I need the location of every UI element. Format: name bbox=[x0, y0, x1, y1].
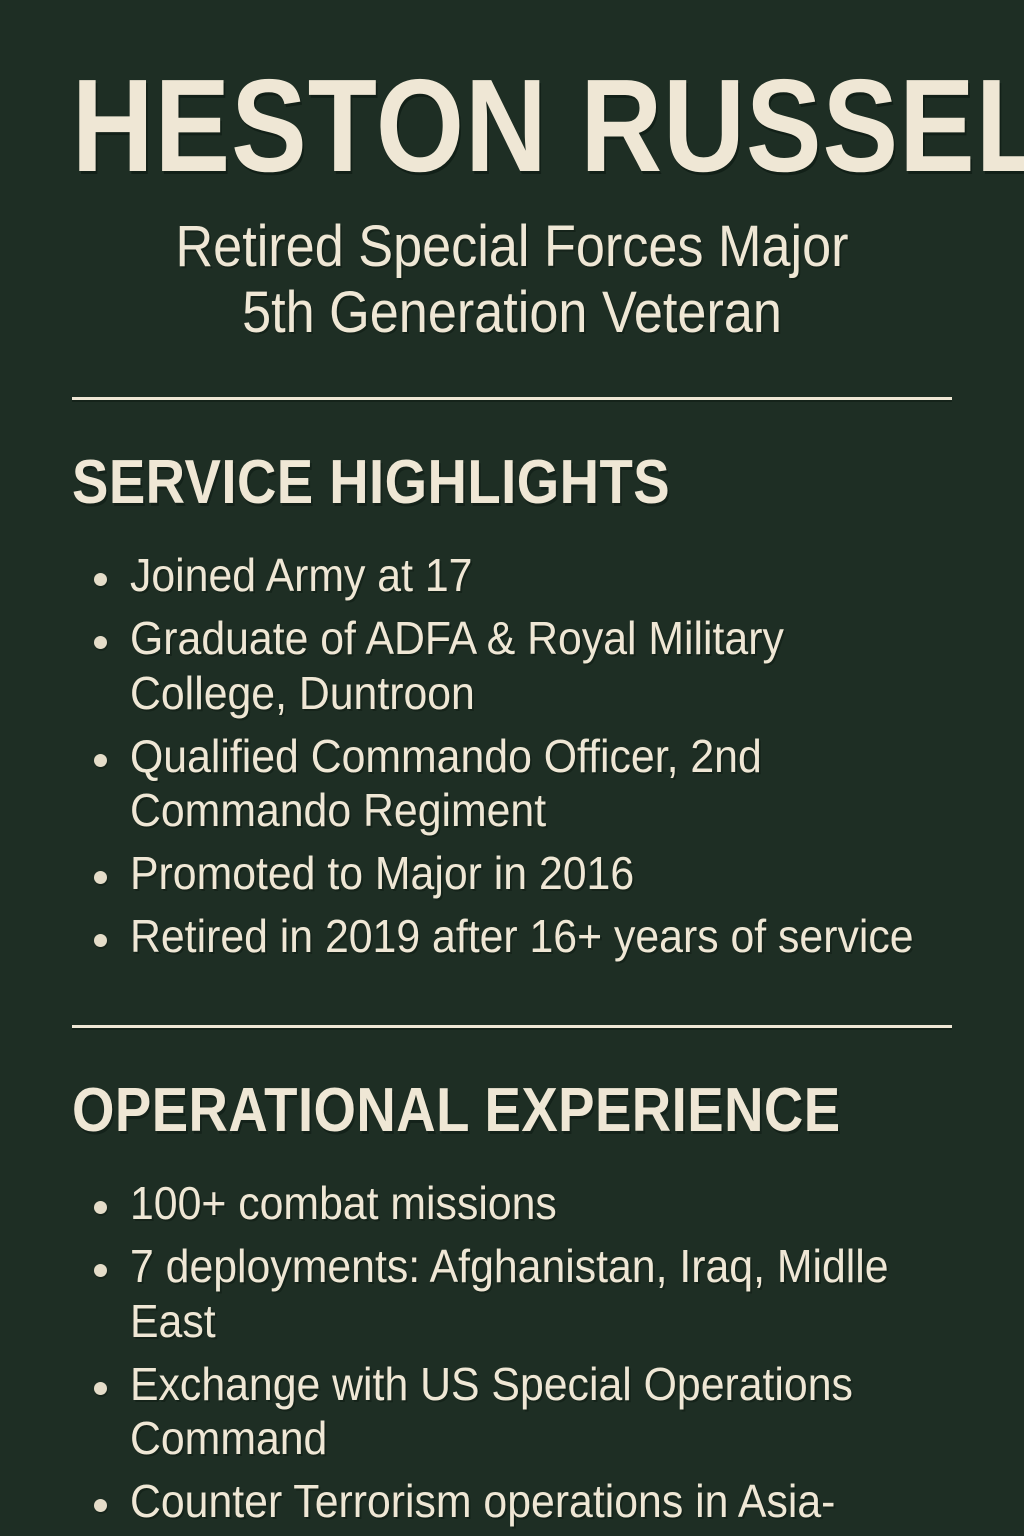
poster-card: HESTON RUSSELL Retired Special Forces Ma… bbox=[0, 0, 1024, 1536]
bullet-list-service-highlights: Joined Army at 17 Graduate of ADFA & Roy… bbox=[72, 548, 976, 963]
list-item-text: 100+ combat missions bbox=[130, 1176, 917, 1231]
list-item: 100+ combat missions bbox=[72, 1176, 976, 1231]
divider-rule-top bbox=[72, 397, 952, 400]
poster-header: HESTON RUSSELL Retired Special Forces Ma… bbox=[0, 0, 1024, 345]
section-heading-service-highlights: SERVICE HIGHLIGHTS bbox=[72, 452, 868, 514]
list-item: Exchange with US Special Operations Comm… bbox=[72, 1357, 976, 1466]
list-item-text: Promoted to Major in 2016 bbox=[130, 846, 917, 901]
subtitle-line-2: 5th Generation Veteran bbox=[51, 280, 973, 346]
list-item-text: Joined Army at 17 bbox=[130, 548, 917, 603]
list-item-text: Qualified Commando Officer, 2nd Commando… bbox=[130, 729, 917, 838]
list-item: Graduate of ADFA & Royal Military Colleg… bbox=[72, 611, 976, 720]
list-item-text: 7 deployments: Afghanistan, Iraq, Midlle… bbox=[130, 1239, 917, 1348]
section-heading-operational-experience: OPERATIONAL EXPERIENCE bbox=[72, 1080, 868, 1142]
list-item: Joined Army at 17 bbox=[72, 548, 976, 603]
list-item: Retired in 2019 after 16+ years of servi… bbox=[72, 909, 976, 964]
list-item: Qualified Commando Officer, 2nd Commando… bbox=[72, 729, 976, 838]
divider-rule-middle bbox=[72, 1025, 952, 1028]
section-service-highlights: SERVICE HIGHLIGHTS Joined Army at 17 Gra… bbox=[0, 452, 1024, 963]
section-operational-experience: OPERATIONAL EXPERIENCE 100+ combat missi… bbox=[0, 1080, 1024, 1536]
list-item-text: Counter Terrorism operations in Asia-Pac… bbox=[130, 1474, 917, 1536]
subtitle-block: Retired Special Forces Major 5th Generat… bbox=[51, 214, 973, 345]
list-item: Counter Terrorism operations in Asia-Pac… bbox=[72, 1474, 976, 1536]
bullet-list-operational-experience: 100+ combat missions 7 deployments: Afgh… bbox=[72, 1176, 976, 1536]
list-item-text: Retired in 2019 after 16+ years of servi… bbox=[130, 909, 917, 964]
list-item: 7 deployments: Afghanistan, Iraq, Midlle… bbox=[72, 1239, 976, 1348]
page-title: HESTON RUSSELL bbox=[72, 72, 953, 180]
list-item-text: Exchange with US Special Operations Comm… bbox=[130, 1357, 917, 1466]
subtitle-line-1: Retired Special Forces Major bbox=[51, 214, 973, 280]
list-item-text: Graduate of ADFA & Royal Military Colleg… bbox=[130, 611, 917, 720]
list-item: Promoted to Major in 2016 bbox=[72, 846, 976, 901]
